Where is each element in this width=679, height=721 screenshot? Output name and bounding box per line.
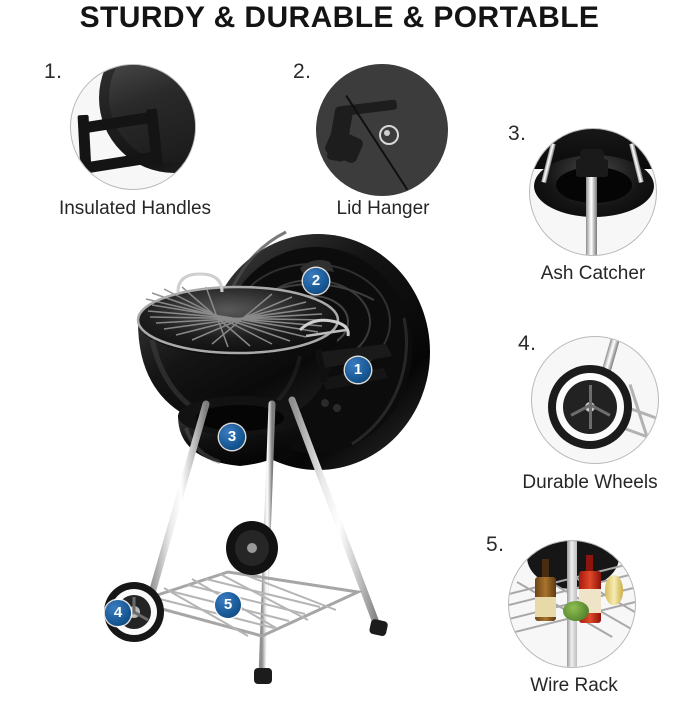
callout-3-number: 3. xyxy=(508,122,527,146)
insulated-handles-icon xyxy=(70,64,196,190)
infographic-page: STURDY & DURABLE & PORTABLE xyxy=(0,0,679,721)
callout-5-number: 5. xyxy=(486,533,505,557)
callout-1-number: 1. xyxy=(44,60,63,84)
badge-2-lid-hanger[interactable]: 2 xyxy=(303,268,329,294)
lid-hanger-icon xyxy=(316,64,448,196)
badge-4-durable-wheels[interactable]: 4 xyxy=(105,600,131,626)
badge-1-insulated-handles[interactable]: 1 xyxy=(345,357,371,383)
callout-2-label: Lid Hanger xyxy=(290,198,476,220)
tripod-legs xyxy=(150,400,378,676)
durable-wheels-icon xyxy=(531,336,659,464)
callout-4-label: Durable Wheels xyxy=(500,472,679,494)
callout-2-number: 2. xyxy=(293,60,312,84)
kettle-bowl xyxy=(138,288,341,432)
callout-1-label: Insulated Handles xyxy=(40,198,230,220)
leg-feet xyxy=(254,619,388,684)
wire-rack-icon xyxy=(508,540,636,668)
badge-3-ash-catcher[interactable]: 3 xyxy=(219,424,245,450)
wire-storage-rack xyxy=(136,572,358,636)
ash-catcher-icon xyxy=(529,128,657,256)
badge-5-wire-rack[interactable]: 5 xyxy=(215,592,241,618)
rear-wheel xyxy=(226,521,278,575)
callout-5-label: Wire Rack xyxy=(490,675,658,697)
callout-3-label: Ash Catcher xyxy=(505,263,679,285)
page-title: STURDY & DURABLE & PORTABLE xyxy=(0,0,679,36)
